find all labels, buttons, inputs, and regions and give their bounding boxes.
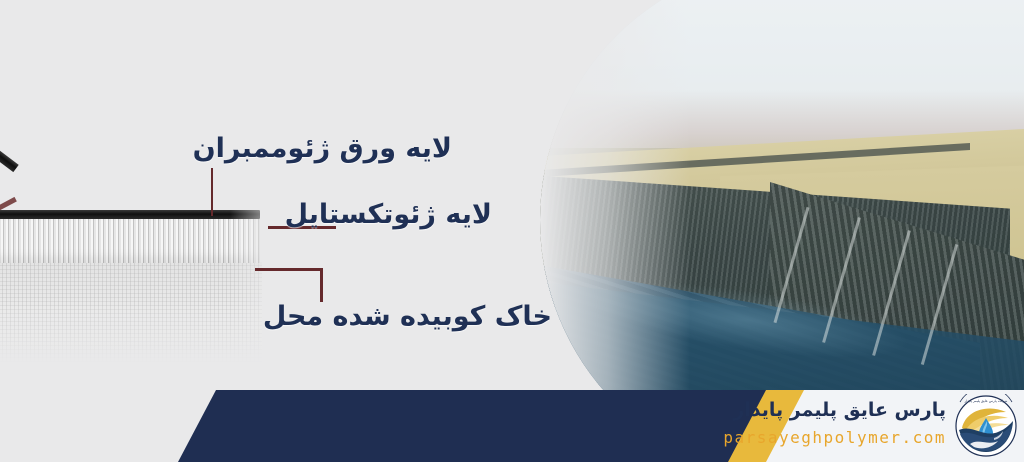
website-url[interactable]: parsayeghpolymer.com [723, 428, 946, 447]
geomembrane-layer-slope-graphic [0, 122, 19, 173]
label-compacted-soil: خاک کوبیده شده محل [300, 301, 552, 332]
footer-bar: پارس عایق پلیمر پایدار parsayeghpolymer.… [0, 390, 1024, 462]
company-name: پارس عایق پلیمر پایدار [733, 399, 946, 421]
label-geomembrane-layer: لایه ورق ژئوممبران [200, 133, 452, 164]
geotextile-layer-graphic [0, 219, 260, 263]
leader-line-soil-horizontal [255, 268, 323, 271]
company-emblem-icon: شرکت پارس عایق پلیمر پایدار [954, 394, 1018, 458]
geomembrane-layer-graphic [0, 210, 260, 219]
diagram-right-fade [230, 150, 300, 380]
label-geotextile-layer: لایه ژئوتکستایل [300, 199, 492, 230]
brand-logo[interactable]: پارس عایق پلیمر پایدار parsayeghpolymer.… [790, 390, 1024, 462]
promo-banner: لایه ورق ژئوممبران لایه ژئوتکستایل خاک ک… [0, 0, 1024, 462]
footer-navy-panel [0, 390, 790, 462]
svg-text:شرکت پارس عایق پلیمر پایدار: شرکت پارس عایق پلیمر پایدار [964, 399, 1008, 403]
leader-line-membrane [211, 168, 213, 216]
leader-line-soil-vertical [320, 268, 323, 302]
layer-cross-section-diagram [0, 150, 300, 380]
